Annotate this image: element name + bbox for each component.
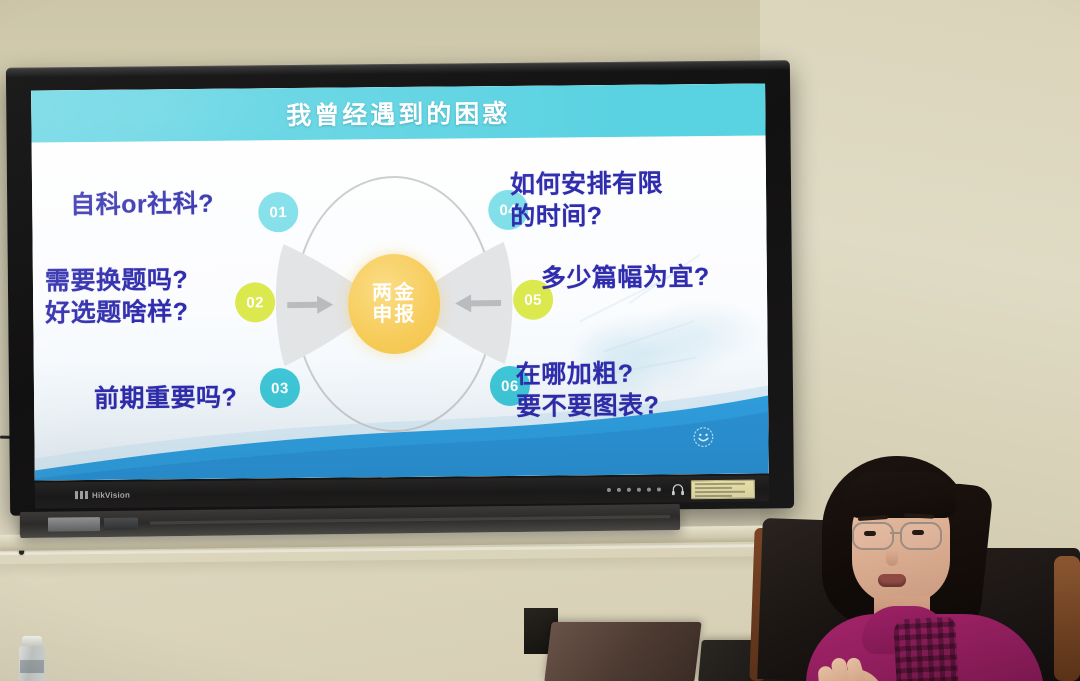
smiley-face-icon <box>692 426 714 448</box>
eye-right <box>912 530 924 535</box>
display-control-buttons[interactable] <box>607 488 661 493</box>
center-label-line1: 两金 <box>372 281 416 304</box>
bottle-label <box>20 660 44 673</box>
control-button[interactable] <box>617 488 621 492</box>
control-button[interactable] <box>627 488 631 492</box>
question-04: 如何安排有限 的时间? <box>510 168 664 232</box>
lens-right <box>900 522 942 550</box>
arrow-right-icon <box>287 296 333 314</box>
bottle-cap <box>22 636 42 646</box>
nose <box>886 550 898 566</box>
eye-left <box>864 531 876 536</box>
slide-title: 我曾经遇到的困惑 <box>286 94 510 132</box>
base-panel <box>48 517 100 532</box>
hikvision-logo-icon <box>75 491 88 499</box>
brand-label: HikVision <box>92 490 130 499</box>
slide-title-banner: 我曾经遇到的困惑 <box>31 83 765 142</box>
badge-02[interactable]: 02 <box>235 282 275 322</box>
base-panel-secondary <box>104 518 138 530</box>
hair-fringe <box>844 472 956 518</box>
display-spec-sticker <box>691 479 755 499</box>
water-bottle <box>18 636 46 681</box>
badge-01[interactable]: 01 <box>258 192 298 232</box>
headphone-jack-icon[interactable] <box>671 482 685 496</box>
center-label-line2: 申报 <box>372 304 416 327</box>
laptop-lid <box>544 622 701 681</box>
presentation-slide: 我曾经遇到的困惑 <box>31 83 769 480</box>
glasses-bridge <box>890 532 902 534</box>
question-02: 需要换题吗? 好选题啥样? <box>45 265 189 329</box>
mouth <box>878 574 906 587</box>
laptop-left <box>548 622 698 681</box>
display-screen[interactable]: 我曾经遇到的困惑 <box>31 83 769 480</box>
interactive-display[interactable]: 我曾经遇到的困惑 <box>6 60 794 516</box>
question-05: 多少篇幅为宜? <box>541 262 710 295</box>
scarf <box>893 616 961 681</box>
arrow-left-icon <box>455 294 501 312</box>
seated-presenter <box>800 446 1060 681</box>
badge-03[interactable]: 03 <box>260 368 300 408</box>
control-button[interactable] <box>607 488 611 492</box>
control-button[interactable] <box>637 488 641 492</box>
question-03: 前期重要吗? <box>94 383 238 416</box>
diagram-center-circle: 两金 申报 <box>348 254 441 355</box>
question-01: 自科or社科? <box>70 189 214 222</box>
lens-left <box>852 522 894 550</box>
display-brand: HikVision <box>75 490 130 500</box>
question-06: 在哪加粗? 要不要图表? <box>516 359 660 423</box>
base-vent <box>150 515 670 524</box>
conference-room-scene: 我曾经遇到的困惑 <box>0 0 1080 681</box>
control-button[interactable] <box>647 488 651 492</box>
control-button[interactable] <box>657 488 661 492</box>
